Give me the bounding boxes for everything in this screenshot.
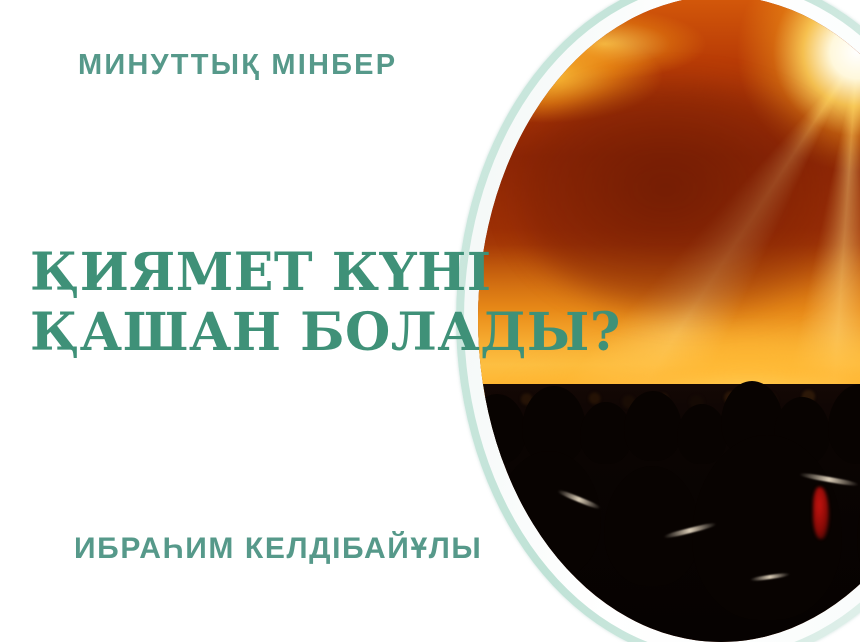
- kicker-label: МИНУТТЫҚ МІНБЕР: [78, 51, 397, 80]
- crowd-head-foreground: [497, 451, 601, 579]
- speaker-name: ИБРАҺИМ КЕЛДІБАЙҰЛЫ: [74, 534, 482, 564]
- crowd-silhouette: [478, 384, 860, 642]
- headline-line-2: ҚАШАН БОЛАДЫ?: [30, 303, 621, 363]
- headline-line-1: ҚИЯМЕТ КҮНІ: [30, 242, 492, 303]
- crowd-head: [624, 391, 682, 461]
- crowd-head-foreground: [604, 466, 700, 586]
- poster-canvas: МИНУТТЫҚ МІНБЕР ҚИЯМЕТ КҮНІ ҚАШАН БОЛАДЫ…: [0, 0, 860, 642]
- page-title: ҚИЯМЕТ КҮНІ ҚАШАН БОЛАДЫ?: [30, 243, 621, 363]
- crowd-head: [677, 404, 727, 464]
